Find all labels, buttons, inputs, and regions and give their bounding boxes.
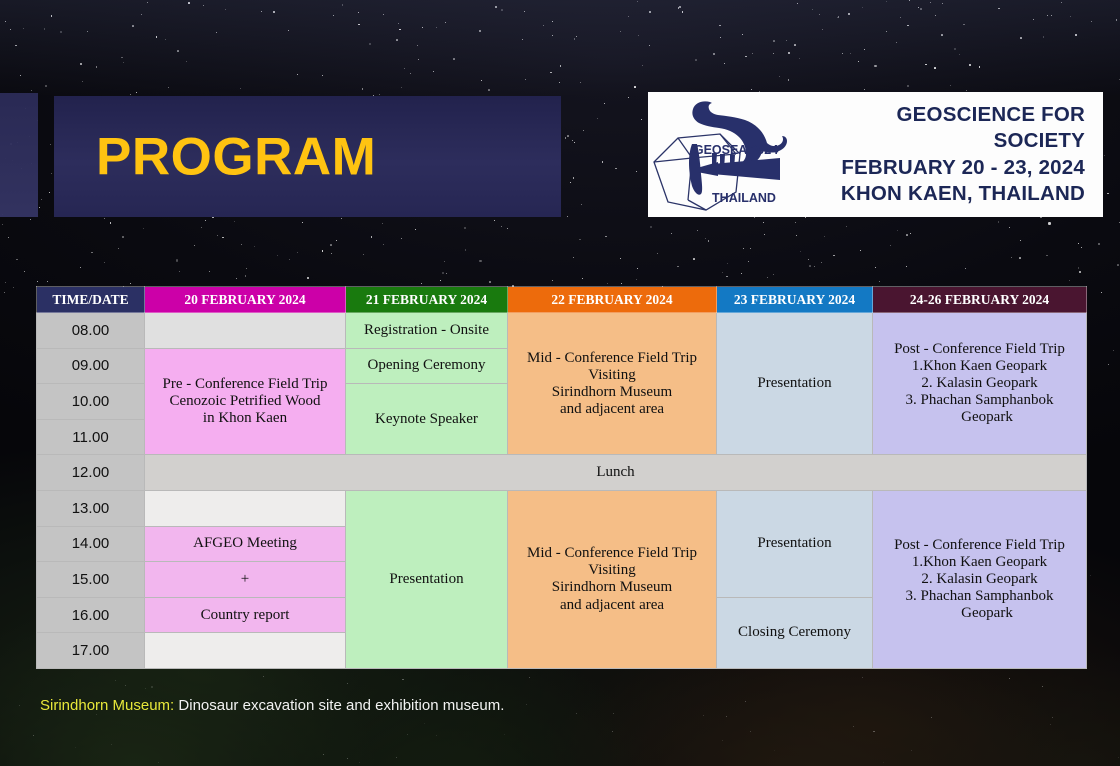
cell-feb20-0800 xyxy=(145,313,346,349)
title-accent-strip xyxy=(0,93,38,217)
cell-feb20-1300 xyxy=(145,490,346,526)
cell-feb20-pre-conference-fieldtrip: Pre - Conference Field TripCenozoic Petr… xyxy=(145,348,346,455)
cell-feb21-opening-ceremony: Opening Ceremony xyxy=(346,348,508,384)
tagline-line-1: GEOSCIENCE FOR SOCIETY xyxy=(828,102,1085,154)
program-table: TIME/DATE 20 FEBRUARY 2024 21 FEBRUARY 2… xyxy=(36,286,1087,669)
time-label-1400: 14.00 xyxy=(37,526,145,562)
geosea-logo-icon: GEOSEA 2024 THAILAND xyxy=(648,96,828,214)
conference-tagline: GEOSCIENCE FOR SOCIETY FEBRUARY 20 - 23,… xyxy=(828,102,1103,207)
sky-glow xyxy=(0,0,1120,96)
time-label-1600: 16.00 xyxy=(37,597,145,633)
column-header-feb20: 20 FEBRUARY 2024 xyxy=(145,287,346,313)
time-label-0900: 09.00 xyxy=(37,348,145,384)
tagline-line-3: KHON KAEN, THAILAND xyxy=(828,181,1085,207)
cell-feb21-registration: Registration - Onsite xyxy=(346,313,508,349)
cell-feb23-presentation-pm: Presentation xyxy=(717,490,873,597)
time-label-1500: 15.00 xyxy=(37,562,145,598)
column-header-feb23: 23 FEBRUARY 2024 xyxy=(717,287,873,313)
cell-feb21-presentation-pm: Presentation xyxy=(346,490,508,668)
conference-logo-card: GEOSEA 2024 THAILAND GEOSCIENCE FOR SOCI… xyxy=(648,92,1103,217)
footnote: Sirindhorn Museum: Dinosaur excavation s… xyxy=(40,697,504,714)
time-label-1000: 10.00 xyxy=(37,384,145,420)
column-header-time: TIME/DATE xyxy=(37,287,145,313)
footnote-text: Dinosaur excavation site and exhibition … xyxy=(174,697,504,714)
cell-feb24-post-trip-am: Post - Conference Field Trip1.Khon Kaen … xyxy=(873,313,1087,455)
column-header-feb21: 21 FEBRUARY 2024 xyxy=(346,287,508,313)
cell-lunch: Lunch xyxy=(145,455,1087,491)
cell-feb20-afgeo-plus: + xyxy=(145,562,346,598)
logo-badge-top: GEOSEA 2024 xyxy=(694,143,778,157)
time-label-1300: 13.00 xyxy=(37,490,145,526)
time-label-1200: 12.00 xyxy=(37,455,145,491)
time-label-0800: 08.00 xyxy=(37,313,145,349)
cell-feb20-country-report: Country report xyxy=(145,597,346,633)
table-row: 13.00 Presentation Mid - Conference Fiel… xyxy=(37,490,1087,526)
cell-feb24-post-trip-pm: Post - Conference Field Trip1.Khon Kaen … xyxy=(873,490,1087,668)
cell-feb22-afternoon-fieldtrip: Mid - Conference Field TripVisitingSirin… xyxy=(508,490,717,668)
footnote-highlight: Sirindhorn Museum: xyxy=(40,697,174,714)
page-title: PROGRAM xyxy=(96,130,376,183)
cell-feb23-presentation-am: Presentation xyxy=(717,313,873,455)
column-header-feb22: 22 FEBRUARY 2024 xyxy=(508,287,717,313)
cell-feb21-keynote-speaker: Keynote Speaker xyxy=(346,384,508,455)
time-label-1100: 11.00 xyxy=(37,419,145,455)
column-header-feb24: 24-26 FEBRUARY 2024 xyxy=(873,287,1087,313)
cell-feb23-closing-ceremony: Closing Ceremony xyxy=(717,597,873,668)
table-row: 12.00 Lunch xyxy=(37,455,1087,491)
logo-badge-bottom: THAILAND xyxy=(712,191,776,205)
cell-feb20-1700 xyxy=(145,633,346,669)
cell-feb20-afgeo-meeting: AFGEO Meeting xyxy=(145,526,346,562)
time-label-1700: 17.00 xyxy=(37,633,145,669)
table-header-row: TIME/DATE 20 FEBRUARY 2024 21 FEBRUARY 2… xyxy=(37,287,1087,313)
cell-feb22-morning-fieldtrip: Mid - Conference Field TripVisitingSirin… xyxy=(508,313,717,455)
tagline-line-2: FEBRUARY 20 - 23, 2024 xyxy=(828,155,1085,181)
table-row: 08.00 Registration - Onsite Mid - Confer… xyxy=(37,313,1087,349)
title-banner: PROGRAM xyxy=(54,96,561,217)
program-table-container: TIME/DATE 20 FEBRUARY 2024 21 FEBRUARY 2… xyxy=(36,286,1086,669)
